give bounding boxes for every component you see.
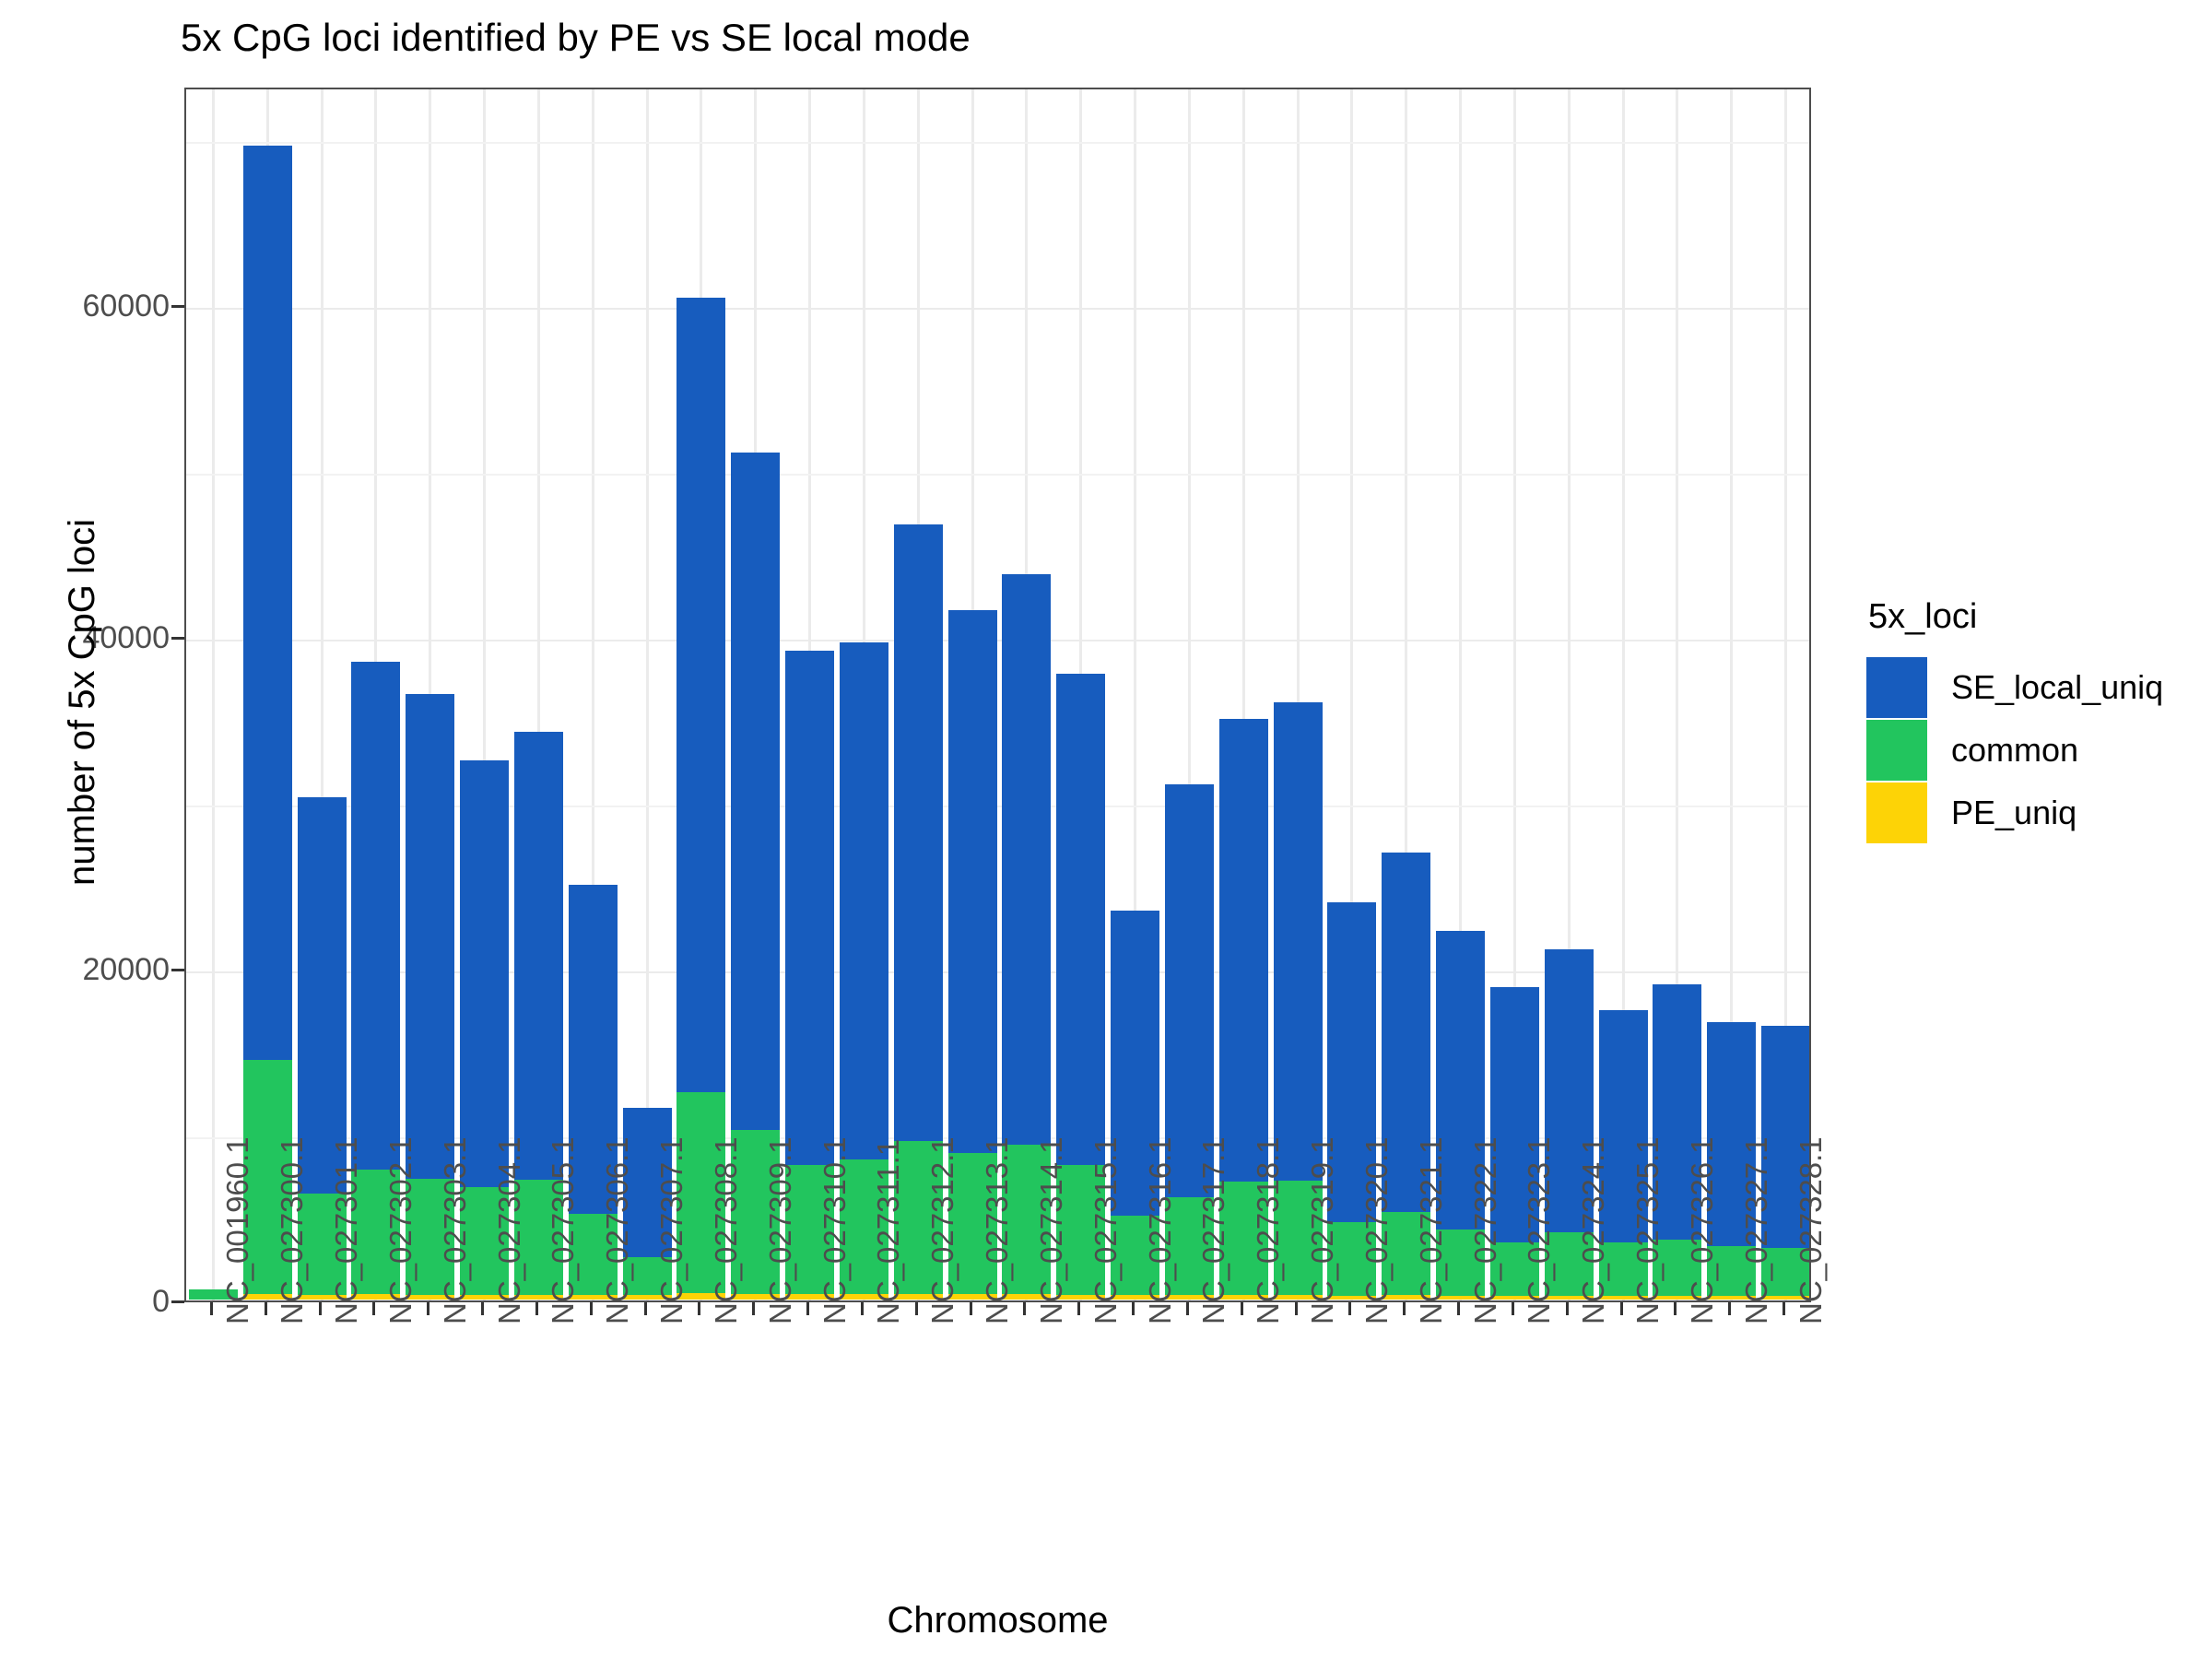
x-axis-tick-label: NC_027327.1 xyxy=(1741,1136,1771,1324)
bar-stack[interactable] xyxy=(1327,88,1376,1300)
x-axis-tick-label: NC_027317.1 xyxy=(1198,1136,1229,1324)
bar-stack[interactable] xyxy=(569,88,618,1300)
bar-segment-se_local_uniq[interactable] xyxy=(731,453,780,1129)
bar-segment-se_local_uniq[interactable] xyxy=(460,760,509,1187)
bar-stack[interactable] xyxy=(1545,88,1594,1300)
x-axis-title: Chromosome xyxy=(184,1599,1811,1641)
x-axis-tick-label: NC_027324.1 xyxy=(1578,1136,1608,1324)
x-axis-tick-label: NC_027320.1 xyxy=(1361,1136,1392,1324)
bar-segment-se_local_uniq[interactable] xyxy=(1002,574,1051,1145)
x-axis-tick-mark xyxy=(535,1302,538,1315)
x-axis-tick-mark xyxy=(1457,1302,1460,1315)
x-axis-tick-label: NC_027313.1 xyxy=(982,1136,1012,1324)
x-axis-tick-label: NC_027326.1 xyxy=(1687,1136,1717,1324)
x-axis-tick-label: NC_027323.1 xyxy=(1524,1136,1554,1324)
bar-stack[interactable] xyxy=(1761,88,1810,1300)
x-axis-tick-label: NC_027305.1 xyxy=(547,1136,578,1324)
y-axis-title: number of 5x CpG loci xyxy=(62,407,102,997)
bar-stack[interactable] xyxy=(1490,88,1539,1300)
bar-segment-se_local_uniq[interactable] xyxy=(785,651,834,1165)
x-axis-tick-mark xyxy=(1023,1302,1026,1315)
legend-item-pe_uniq[interactable]: PE_uniq xyxy=(1866,782,2180,844)
legend-swatch-pe_uniq xyxy=(1866,782,1927,843)
bar-segment-se_local_uniq[interactable] xyxy=(298,797,347,1194)
x-axis-tick-mark xyxy=(1077,1302,1080,1315)
x-axis-tick-label: NC_027303.1 xyxy=(440,1136,470,1324)
x-axis-tick-mark xyxy=(1348,1302,1351,1315)
x-axis-tick-label: NC_027306.1 xyxy=(602,1136,632,1324)
x-axis-tick-mark xyxy=(427,1302,429,1315)
x-axis-tick-label: NC_027328.1 xyxy=(1795,1136,1826,1324)
x-axis-tick-label: NC_027319.1 xyxy=(1307,1136,1337,1324)
y-axis-tick-mark xyxy=(171,1300,184,1303)
bar-stack[interactable] xyxy=(948,88,997,1300)
bar-stack[interactable] xyxy=(460,88,509,1300)
bar-segment-se_local_uniq[interactable] xyxy=(1274,702,1323,1180)
bar-stack[interactable] xyxy=(1382,88,1430,1300)
legend-swatch-common xyxy=(1866,720,1927,781)
legend-title: 5x_loci xyxy=(1866,597,2180,636)
x-axis-tick-mark xyxy=(861,1302,864,1315)
x-axis-tick-label: NC_027309.1 xyxy=(765,1136,795,1324)
x-axis-tick-label: NC_027314.1 xyxy=(1036,1136,1066,1324)
bar-series-layer xyxy=(186,89,1809,1300)
x-axis-tick-mark xyxy=(1186,1302,1189,1315)
legend-label: SE_local_uniq xyxy=(1951,671,2163,704)
x-axis-tick-label: NC_027307.1 xyxy=(656,1136,687,1324)
bar-segment-se_local_uniq[interactable] xyxy=(1056,674,1105,1165)
bar-stack[interactable] xyxy=(189,88,238,1300)
x-axis-tick-label: NC_027318.1 xyxy=(1253,1136,1283,1324)
x-axis-tick-label: NC_027316.1 xyxy=(1145,1136,1175,1324)
bar-stack[interactable] xyxy=(406,88,454,1300)
bar-stack[interactable] xyxy=(1165,88,1214,1300)
legend-item-se_local_uniq[interactable]: SE_local_uniq xyxy=(1866,656,2180,719)
legend-item-common[interactable]: common xyxy=(1866,719,2180,782)
x-axis-tick-mark xyxy=(970,1302,972,1315)
x-axis-tick-mark xyxy=(1620,1302,1623,1315)
x-axis-tick-mark xyxy=(1566,1302,1569,1315)
x-axis-tick-label: NC_027304.1 xyxy=(494,1136,524,1324)
x-axis-tick-mark xyxy=(698,1302,700,1315)
x-axis-tick-mark xyxy=(210,1302,213,1315)
y-axis-tick-mark xyxy=(171,637,184,640)
bar-stack[interactable] xyxy=(1653,88,1701,1300)
x-axis-tick-mark xyxy=(1241,1302,1243,1315)
bar-segment-se_local_uniq[interactable] xyxy=(677,298,725,1092)
bar-stack[interactable] xyxy=(1707,88,1756,1300)
bar-stack[interactable] xyxy=(623,88,672,1300)
x-axis-tick-mark xyxy=(1674,1302,1677,1315)
legend-label: PE_uniq xyxy=(1951,796,2077,829)
x-axis-tick-label: NC_027315.1 xyxy=(1090,1136,1121,1324)
y-axis-tick-label: 0 xyxy=(152,1286,170,1317)
bar-segment-se_local_uniq[interactable] xyxy=(406,694,454,1179)
y-axis-tick-mark xyxy=(171,969,184,971)
x-axis-tick-label: NC_027322.1 xyxy=(1470,1136,1500,1324)
page-title: 5x CpG loci identified by PE vs SE local… xyxy=(181,13,971,63)
x-axis-tick-mark xyxy=(1295,1302,1298,1315)
y-axis-tick-mark xyxy=(171,305,184,308)
bar-stack[interactable] xyxy=(1274,88,1323,1300)
bar-segment-se_local_uniq[interactable] xyxy=(243,146,292,1060)
bar-stack[interactable] xyxy=(351,88,400,1300)
bar-segment-se_local_uniq[interactable] xyxy=(894,524,943,1142)
x-axis-tick-mark xyxy=(590,1302,593,1315)
bar-stack[interactable] xyxy=(1111,88,1159,1300)
bar-stack[interactable] xyxy=(840,88,888,1300)
bar-stack[interactable] xyxy=(1219,88,1268,1300)
x-axis-tick-mark xyxy=(481,1302,484,1315)
x-axis-tick-label: NC_027302.1 xyxy=(385,1136,416,1324)
bar-segment-se_local_uniq[interactable] xyxy=(514,732,563,1180)
x-axis-tick-mark xyxy=(1403,1302,1406,1315)
bar-stack[interactable] xyxy=(243,88,292,1300)
bar-segment-se_local_uniq[interactable] xyxy=(948,610,997,1153)
x-axis-tick-label: NC_027300.1 xyxy=(276,1136,307,1324)
x-axis-tick-mark xyxy=(915,1302,918,1315)
bar-segment-se_local_uniq[interactable] xyxy=(1165,784,1214,1197)
x-axis-tick-label: NC_001960.1 xyxy=(222,1136,253,1324)
bar-segment-se_local_uniq[interactable] xyxy=(1219,719,1268,1182)
bar-stack[interactable] xyxy=(1599,88,1648,1300)
legend-swatch-se_local_uniq xyxy=(1866,657,1927,718)
bar-segment-se_local_uniq[interactable] xyxy=(351,662,400,1170)
legend-rows: SE_local_uniqcommonPE_uniq xyxy=(1866,656,2180,844)
x-axis-tick-mark xyxy=(752,1302,755,1315)
x-axis-tick-mark xyxy=(1728,1302,1731,1315)
bar-segment-se_local_uniq[interactable] xyxy=(840,642,888,1160)
bar-stack[interactable] xyxy=(1056,88,1105,1300)
x-axis-tick-label: NC_027310.1 xyxy=(819,1136,850,1324)
x-axis-tick-label: NC_027301.1 xyxy=(331,1136,361,1324)
x-axis-tick-mark xyxy=(1132,1302,1135,1315)
x-axis-tick-label: NC_027325.1 xyxy=(1632,1136,1663,1324)
x-axis-tick-label: NC_027308.1 xyxy=(711,1136,741,1324)
bar-stack[interactable] xyxy=(514,88,563,1300)
bar-stack[interactable] xyxy=(785,88,834,1300)
bar-stack[interactable] xyxy=(677,88,725,1300)
bar-stack[interactable] xyxy=(894,88,943,1300)
bar-stack[interactable] xyxy=(1002,88,1051,1300)
x-axis-tick-mark xyxy=(372,1302,375,1315)
y-axis-tick-label: 60000 xyxy=(82,290,170,322)
bar-stack[interactable] xyxy=(298,88,347,1300)
x-axis-tick-label: NC_027312.1 xyxy=(927,1136,958,1324)
x-axis-tick-mark xyxy=(806,1302,809,1315)
x-axis-tick-mark xyxy=(319,1302,322,1315)
bar-stack[interactable] xyxy=(731,88,780,1300)
bar-stack[interactable] xyxy=(1436,88,1485,1300)
x-axis-tick-mark xyxy=(644,1302,647,1315)
legend-label: common xyxy=(1951,734,2078,767)
x-axis-tick-label: NC_027311.1 xyxy=(873,1139,903,1324)
x-axis-tick-label: NC_027321.1 xyxy=(1416,1136,1446,1324)
x-axis-tick-mark xyxy=(1783,1302,1785,1315)
x-axis-tick-mark xyxy=(265,1302,267,1315)
x-axis-tick-mark xyxy=(1512,1302,1514,1315)
plot-panel xyxy=(184,88,1811,1302)
legend: 5x_loci SE_local_uniqcommonPE_uniq xyxy=(1866,597,2180,844)
